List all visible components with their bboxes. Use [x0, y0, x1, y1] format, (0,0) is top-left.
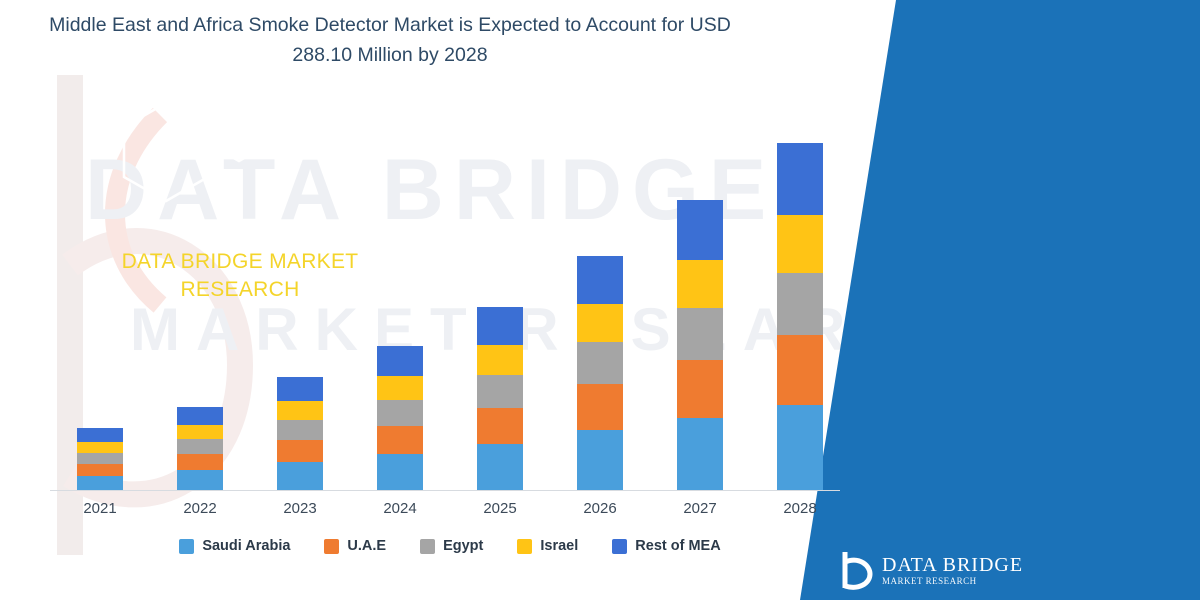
legend-item-israel[interactable]: Israel — [517, 538, 578, 554]
stacked-bar — [277, 377, 323, 490]
bar-segment — [77, 476, 123, 490]
bar-segment — [177, 407, 223, 425]
bar-segment — [577, 342, 623, 384]
bar-segment — [177, 454, 223, 470]
bar-segment — [477, 375, 523, 408]
bar-group — [50, 100, 850, 490]
x-label-2026: 2026 — [550, 500, 650, 517]
bar-column-2027 — [650, 100, 750, 490]
legend-item-u-a-e[interactable]: U.A.E — [324, 538, 386, 554]
legend-item-saudi-arabia[interactable]: Saudi Arabia — [179, 538, 290, 554]
bar-segment — [677, 200, 723, 260]
bar-segment — [477, 345, 523, 375]
bar-segment — [777, 405, 823, 490]
bar-segment — [177, 439, 223, 454]
x-label-2024: 2024 — [350, 500, 450, 517]
bar-segment — [277, 401, 323, 420]
x-axis-labels: 20212022202320242025202620272028 — [50, 500, 850, 517]
bar-column-2025 — [450, 100, 550, 490]
stacked-bar — [677, 200, 723, 490]
stacked-bar — [77, 428, 123, 490]
bar-segment — [77, 453, 123, 464]
legend-item-egypt[interactable]: Egypt — [420, 538, 483, 554]
x-label-2022: 2022 — [150, 500, 250, 517]
bar-segment — [577, 256, 623, 304]
bar-segment — [77, 442, 123, 453]
bar-segment — [577, 430, 623, 490]
bar-segment — [277, 440, 323, 462]
legend-label: Egypt — [443, 538, 483, 554]
bar-segment — [477, 444, 523, 490]
legend: Saudi ArabiaU.A.EEgyptIsraelRest of MEA — [55, 538, 845, 554]
footer-logo-tagline: MARKET RESEARCH — [882, 576, 1023, 586]
bar-segment — [377, 346, 423, 376]
stacked-bar — [577, 256, 623, 490]
x-label-2025: 2025 — [450, 500, 550, 517]
bar-segment — [777, 335, 823, 405]
bar-column-2028 — [750, 100, 850, 490]
legend-item-rest-of-mea[interactable]: Rest of MEA — [612, 538, 720, 554]
x-label-2027: 2027 — [650, 500, 750, 517]
legend-swatch-icon — [612, 539, 627, 554]
x-label-2028: 2028 — [750, 500, 850, 517]
chart-page: DATA BRIDGE MARKET RESEARCH Detector Mar… — [0, 0, 1200, 600]
chart-title: Middle East and Africa Smoke Detector Ma… — [40, 10, 740, 70]
stacked-bar — [777, 143, 823, 490]
x-label-2021: 2021 — [50, 500, 150, 517]
bar-segment — [277, 420, 323, 440]
bar-segment — [677, 308, 723, 360]
legend-swatch-icon — [179, 539, 194, 554]
legend-label: Israel — [540, 538, 578, 554]
bar-segment — [377, 400, 423, 426]
bar-column-2024 — [350, 100, 450, 490]
legend-label: Saudi Arabia — [202, 538, 290, 554]
bar-segment — [277, 462, 323, 490]
bar-segment — [677, 260, 723, 308]
bar-segment — [377, 426, 423, 454]
bar-segment — [477, 408, 523, 444]
legend-label: Rest of MEA — [635, 538, 720, 554]
bar-segment — [277, 377, 323, 401]
bar-segment — [777, 143, 823, 215]
bar-segment — [377, 454, 423, 490]
bar-segment — [677, 360, 723, 418]
bar-segment — [577, 304, 623, 342]
bar-column-2023 — [250, 100, 350, 490]
bar-column-2021 — [50, 100, 150, 490]
bar-segment — [77, 464, 123, 476]
bar-segment — [777, 273, 823, 335]
legend-swatch-icon — [420, 539, 435, 554]
x-label-2023: 2023 — [250, 500, 350, 517]
bar-segment — [177, 425, 223, 439]
footer-logo-name: DATA BRIDGE — [882, 554, 1023, 576]
legend-swatch-icon — [517, 539, 532, 554]
bar-column-2022 — [150, 100, 250, 490]
bar-segment — [77, 428, 123, 442]
bar-segment — [777, 215, 823, 273]
bar-segment — [477, 307, 523, 345]
stacked-bar — [177, 407, 223, 490]
legend-swatch-icon — [324, 539, 339, 554]
bar-column-2026 — [550, 100, 650, 490]
x-axis-line — [50, 490, 840, 491]
bar-segment — [677, 418, 723, 490]
bar-segment — [577, 384, 623, 430]
legend-label: U.A.E — [347, 538, 386, 554]
bar-segment — [177, 470, 223, 490]
bar-segment — [377, 376, 423, 400]
stacked-bar — [377, 346, 423, 490]
stacked-bar — [477, 307, 523, 490]
chart: Middle East and Africa Smoke Detector Ma… — [0, 0, 900, 600]
